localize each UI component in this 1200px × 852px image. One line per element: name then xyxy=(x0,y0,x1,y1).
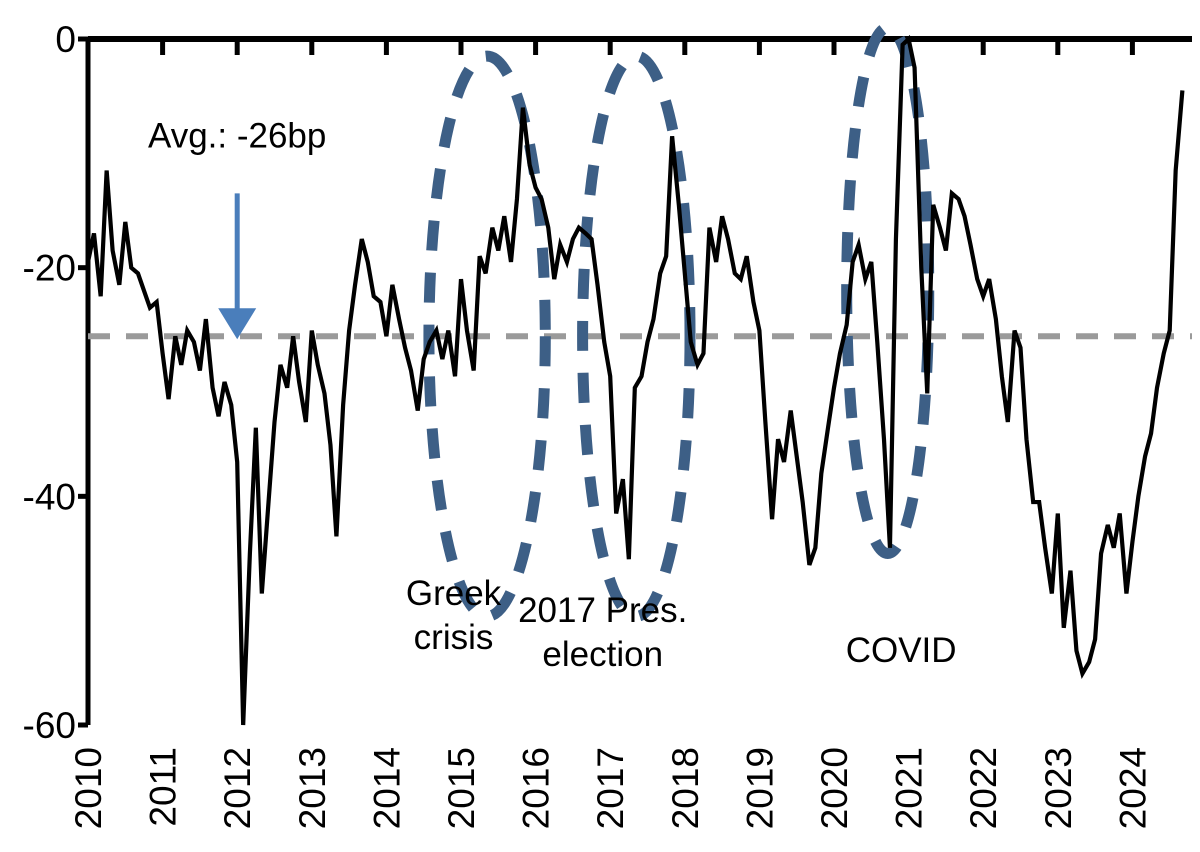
y-tick-label: -40 xyxy=(23,476,76,517)
x-tick-label: 2019 xyxy=(739,747,780,829)
y-tick-label: 0 xyxy=(55,19,76,60)
y-tick-label: -20 xyxy=(23,248,76,289)
x-tick-label: 2021 xyxy=(889,747,930,829)
pres-election-text: election xyxy=(542,635,663,674)
x-tick-label: 2023 xyxy=(1038,747,1079,829)
x-tick-label: 2012 xyxy=(217,747,258,829)
x-tick-label: 2020 xyxy=(814,747,855,829)
x-axis-tick-labels: 2010201120122013201420152016201720182019… xyxy=(68,747,1153,829)
x-tick-label: 2018 xyxy=(665,747,706,829)
x-tick-label: 2015 xyxy=(441,747,482,829)
x-tick-label: 2010 xyxy=(68,747,109,829)
x-tick-label: 2014 xyxy=(366,747,407,829)
x-tick-label: 2013 xyxy=(292,747,333,829)
x-tick-label: 2011 xyxy=(143,747,184,827)
chart-container: 0-20-40-60 20102011201220132014201520162… xyxy=(0,0,1200,852)
avg-label-text: Avg.: -26bp xyxy=(148,117,326,156)
x-tick-label: 2017 xyxy=(590,747,631,829)
x-tick-label: 2024 xyxy=(1112,747,1153,829)
greek-crisis-text: Greek xyxy=(406,574,502,613)
y-tick-label: -60 xyxy=(23,705,76,746)
pres-election-text: 2017 Pres. xyxy=(518,591,687,630)
covid-text: COVID xyxy=(846,631,957,670)
line-chart: 0-20-40-60 20102011201220132014201520162… xyxy=(0,0,1200,852)
x-tick-label: 2016 xyxy=(516,747,557,829)
x-tick-label: 2022 xyxy=(963,747,1004,829)
greek-crisis-text: crisis xyxy=(414,618,494,657)
